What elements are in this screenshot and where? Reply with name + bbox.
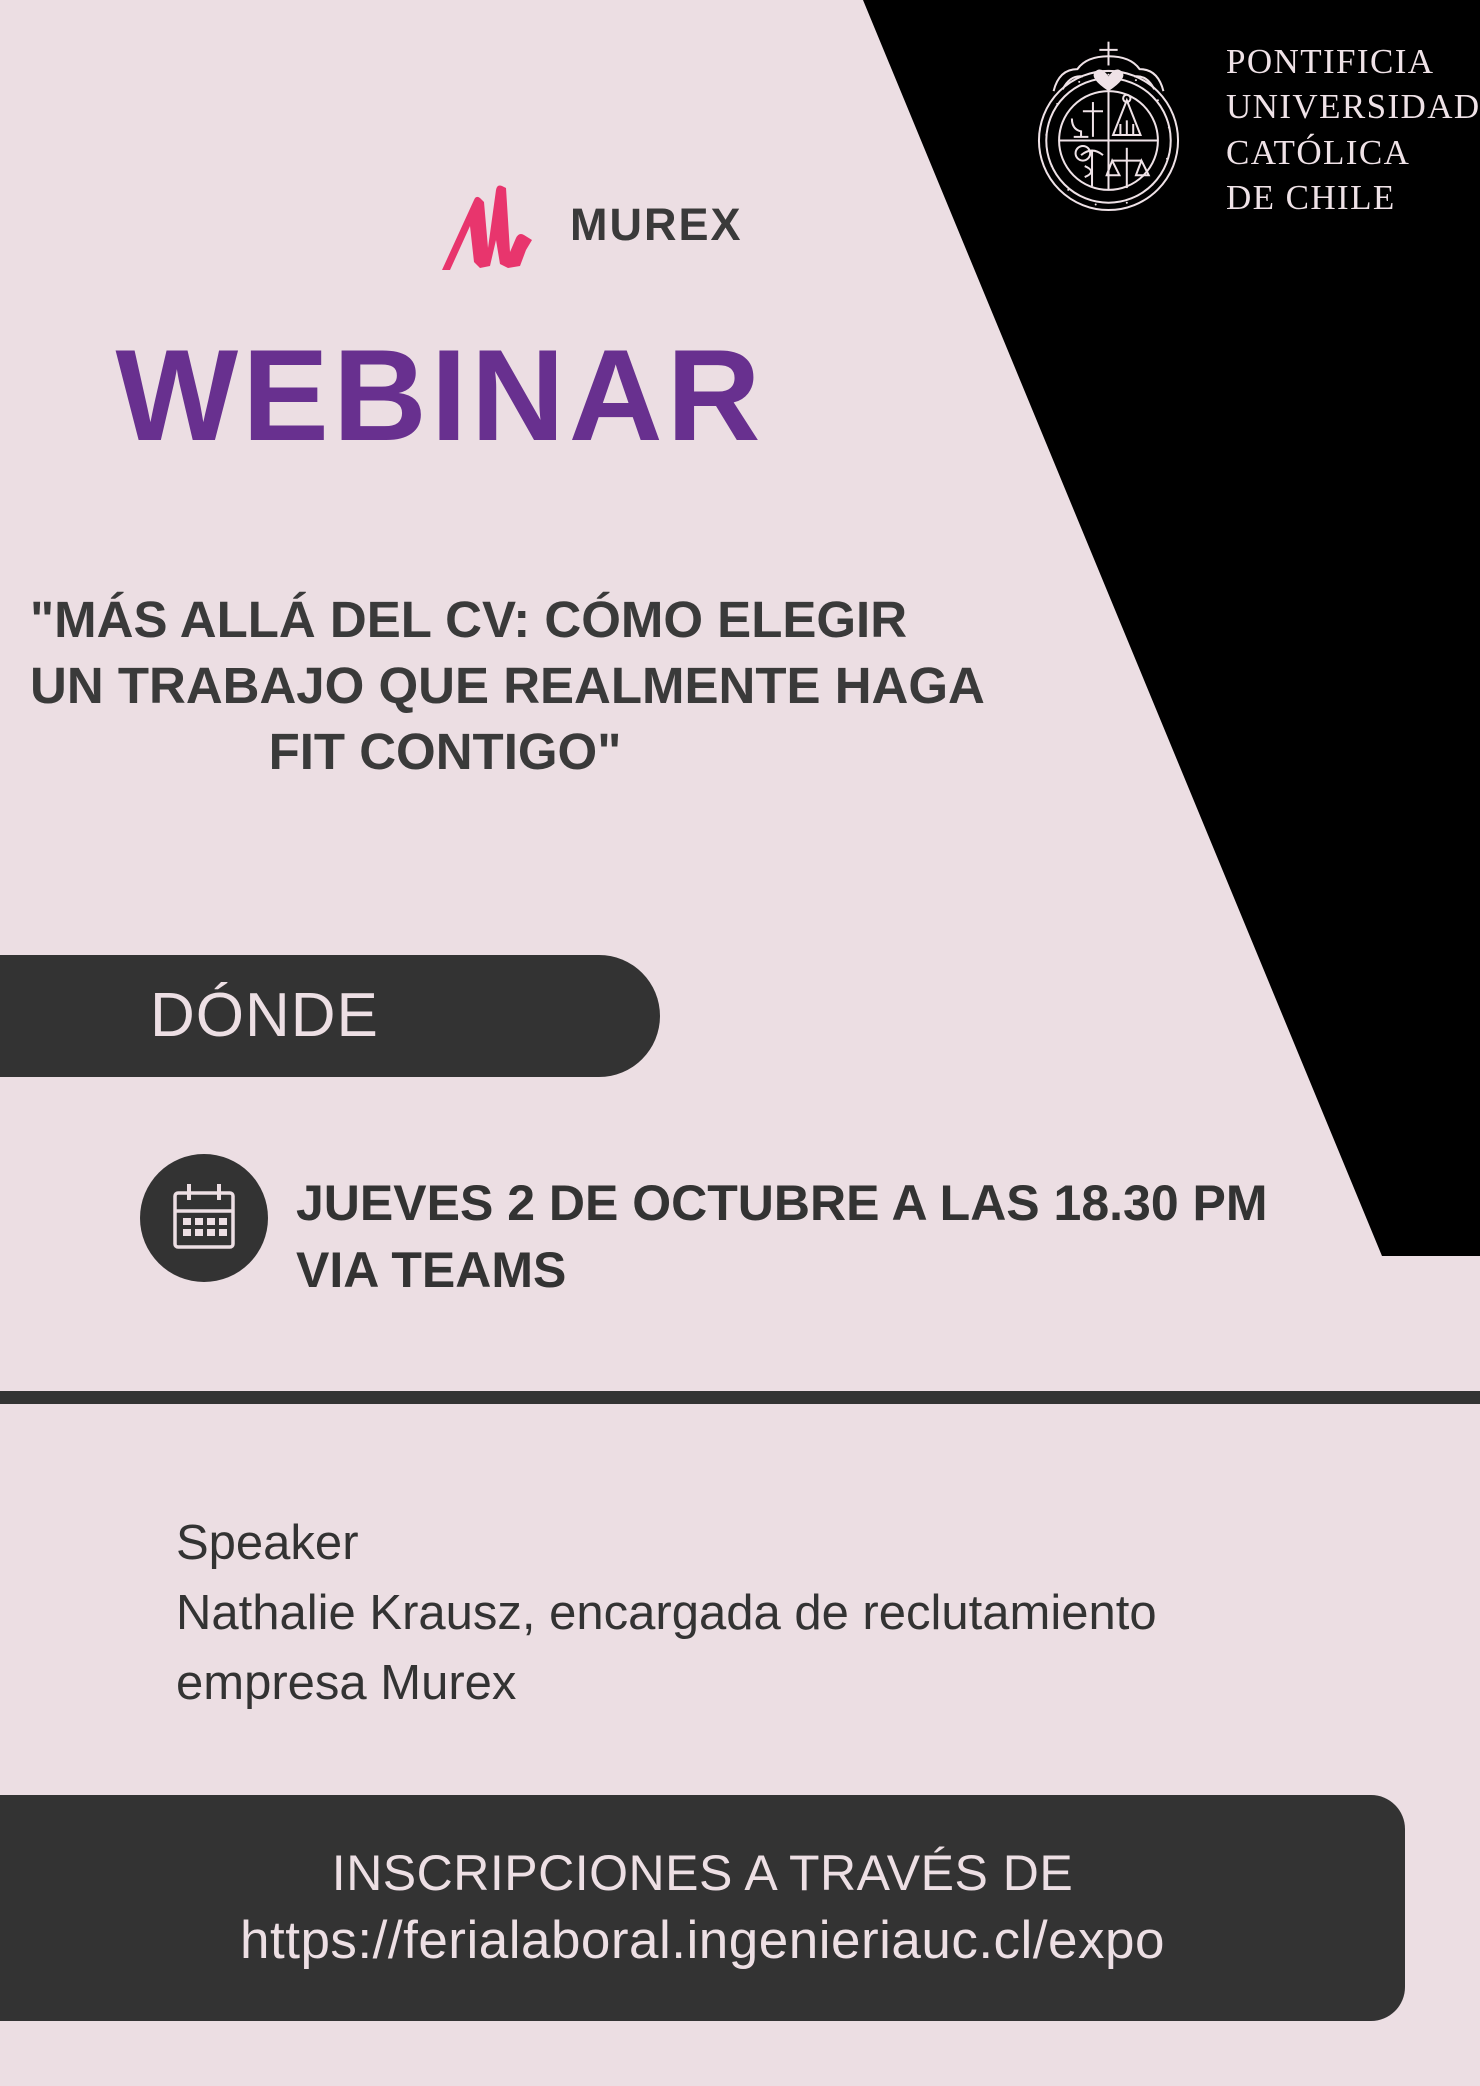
murex-m-mark-icon bbox=[440, 178, 548, 270]
subtitle-line-3: FIT CONTIGO" bbox=[30, 719, 860, 785]
registration-url[interactable]: https://ferialaboral.ingenieriauc.cl/exp… bbox=[240, 1908, 1165, 1974]
speaker-label: Speaker bbox=[176, 1508, 1157, 1578]
speaker-block: Speaker Nathalie Krausz, encargada de re… bbox=[176, 1508, 1157, 1718]
webinar-poster: MUREX bbox=[0, 0, 1480, 2086]
event-date-line-2: VIA TEAMS bbox=[296, 1237, 1268, 1304]
murex-wordmark: MUREX bbox=[570, 202, 743, 247]
uc-wordmark: PONTIFICIA UNIVERSIDAD CATÓLICA DE CHILE bbox=[1226, 39, 1480, 221]
donde-label: DÓNDE bbox=[150, 985, 379, 1047]
uc-word-line-4: DE CHILE bbox=[1226, 175, 1480, 221]
subtitle-line-2: UN TRABAJO QUE REALMENTE HAGA bbox=[30, 653, 860, 719]
speaker-name-line: Nathalie Krausz, encargada de reclutamie… bbox=[176, 1578, 1157, 1648]
uc-shield-crest-icon bbox=[1017, 38, 1200, 221]
uc-word-line-3: CATÓLICA bbox=[1226, 130, 1480, 176]
uc-word-line-1: PONTIFICIA bbox=[1226, 39, 1480, 85]
page-title: WEBINAR bbox=[0, 330, 880, 460]
uc-word-line-2: UNIVERSIDAD bbox=[1226, 84, 1480, 130]
event-date-text: JUEVES 2 DE OCTUBRE A LAS 18.30 PM VIA T… bbox=[296, 1170, 1268, 1303]
speaker-company-line: empresa Murex bbox=[176, 1648, 1157, 1718]
donde-pill: DÓNDE bbox=[0, 955, 660, 1077]
calendar-icon bbox=[167, 1181, 241, 1255]
uc-logo: PONTIFICIA UNIVERSIDAD CATÓLICA DE CHILE bbox=[1017, 38, 1480, 221]
event-date-block: JUEVES 2 DE OCTUBRE A LAS 18.30 PM VIA T… bbox=[140, 1152, 1268, 1303]
webinar-subtitle: "MÁS ALLÁ DEL CV: CÓMO ELEGIR UN TRABAJO… bbox=[30, 587, 860, 784]
calendar-icon-badge bbox=[140, 1154, 268, 1282]
event-date-line-1: JUEVES 2 DE OCTUBRE A LAS 18.30 PM bbox=[296, 1170, 1268, 1237]
subtitle-line-1: "MÁS ALLÁ DEL CV: CÓMO ELEGIR bbox=[30, 587, 860, 653]
murex-logo: MUREX bbox=[440, 178, 730, 270]
registration-label: INSCRIPCIONES A TRAVÉS DE bbox=[332, 1842, 1073, 1905]
section-divider bbox=[0, 1391, 1480, 1404]
registration-bar: INSCRIPCIONES A TRAVÉS DE https://ferial… bbox=[0, 1795, 1405, 2021]
